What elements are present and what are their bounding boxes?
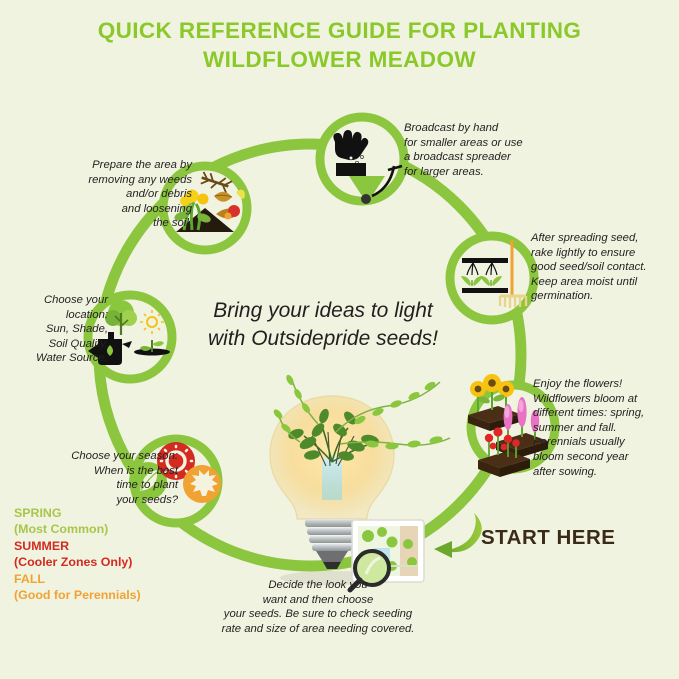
caption-enjoy-line-7: after sowing. xyxy=(533,465,679,480)
caption-broadcast-line-3: a broadcast spreader xyxy=(404,150,564,165)
caption-enjoy-line-5: Perennials usually xyxy=(533,435,679,450)
caption-enjoy-line-4: summer and fall. xyxy=(533,421,679,436)
caption-season: Choose your season: When is the best tim… xyxy=(14,449,178,507)
caption-season-line-3: time to plant xyxy=(14,478,178,493)
caption-location-line-5: Water Source. xyxy=(6,351,108,366)
caption-decide-line-2: want and then choose xyxy=(198,593,438,608)
title-line-1: QUICK REFERENCE GUIDE FOR PLANTING xyxy=(0,16,679,45)
season-option-spring-note: (Most Common) xyxy=(14,521,178,537)
caption-prepare-line-4: and loosening xyxy=(40,202,192,217)
season-option-fall-name: FALL xyxy=(14,571,178,587)
caption-rake-line-5: germination. xyxy=(531,289,679,304)
caption-prepare-line-1: Prepare the area by xyxy=(40,158,192,173)
caption-rake-line-2: rake lightly to ensure xyxy=(531,246,679,261)
caption-decide-line-4: rate and size of area needing covered. xyxy=(198,622,438,637)
caption-location: Choose your location: Sun, Shade, Soil Q… xyxy=(6,293,108,366)
caption-location-line-4: Soil Quality, xyxy=(6,337,108,352)
caption-enjoy-line-6: bloom second year xyxy=(533,450,679,465)
caption-location-line-2: location: xyxy=(6,308,108,323)
caption-season-line-2: When is the best xyxy=(14,464,178,479)
caption-enjoy-line-3: different times: spring, xyxy=(533,406,679,421)
caption-rake-line-3: good seed/soil contact. xyxy=(531,260,679,275)
caption-broadcast-line-4: for larger areas. xyxy=(404,165,564,180)
page-title: QUICK REFERENCE GUIDE FOR PLANTING WILDF… xyxy=(0,16,679,74)
caption-enjoy-line-2: Wildflowers bloom at xyxy=(533,392,679,407)
infographic-canvas: QUICK REFERENCE GUIDE FOR PLANTING WILDF… xyxy=(0,0,679,679)
caption-decide-line-3: your seeds. Be sure to check seeding xyxy=(198,607,438,622)
season-option-summer-note: (Cooler Zones Only) xyxy=(14,554,178,570)
caption-prepare: Prepare the area by removing any weeds a… xyxy=(40,158,192,231)
caption-rake-line-4: Keep area moist until xyxy=(531,275,679,290)
caption-location-line-3: Sun, Shade, xyxy=(6,322,108,337)
caption-prepare-line-3: and/or debris xyxy=(40,187,192,202)
caption-location-line-1: Choose your xyxy=(6,293,108,308)
caption-enjoy: Enjoy the flowers! Wildflowers bloom at … xyxy=(533,377,679,479)
caption-broadcast-line-2: for smaller areas or use xyxy=(404,136,564,151)
caption-enjoy-line-1: Enjoy the flowers! xyxy=(533,377,679,392)
caption-prepare-line-2: removing any weeds xyxy=(40,173,192,188)
start-here-label: START HERE xyxy=(481,526,615,550)
caption-decide: Decide the look you want and then choose… xyxy=(198,578,438,636)
caption-prepare-line-5: the soil. xyxy=(40,216,192,231)
season-options-list: SPRING (Most Common) SUMMER (Cooler Zone… xyxy=(14,505,178,603)
caption-decide-line-1: Decide the look you xyxy=(198,578,438,593)
node-broadcast[interactable] xyxy=(320,117,404,204)
tagline-line-1: Bring your ideas to light xyxy=(163,297,483,325)
caption-rake-line-1: After spreading seed, xyxy=(531,231,679,246)
tagline: Bring your ideas to light with Outsidepr… xyxy=(163,297,483,353)
caption-broadcast-line-1: Broadcast by hand xyxy=(404,121,564,136)
caption-broadcast: Broadcast by hand for smaller areas or u… xyxy=(404,121,564,179)
season-option-summer-name: SUMMER xyxy=(14,538,178,554)
caption-rake: After spreading seed, rake lightly to en… xyxy=(531,231,679,304)
season-option-spring-name: SPRING xyxy=(14,505,178,521)
title-line-2: WILDFLOWER MEADOW xyxy=(0,45,679,74)
season-option-fall-note: (Good for Perennials) xyxy=(14,587,178,603)
caption-season-line-1: Choose your season: xyxy=(14,449,178,464)
tagline-line-2: with Outsidepride seeds! xyxy=(163,325,483,353)
